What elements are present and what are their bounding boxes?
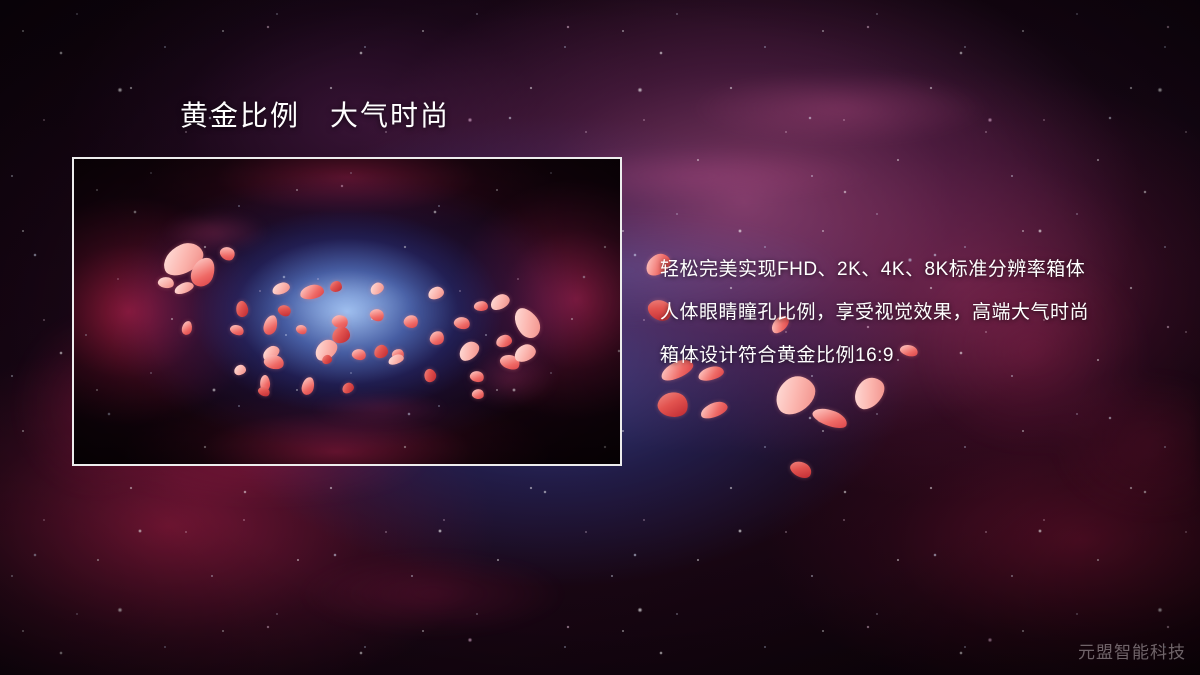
- description-line-3: 箱体设计符合黄金比例16:9: [660, 334, 1180, 377]
- petal: [330, 281, 342, 292]
- description-line-1: 轻松完美实现FHD、2K、4K、8K标准分辨率箱体: [660, 248, 1180, 291]
- description-text: 轻松完美实现FHD、2K、4K、8K标准分辨率箱体 人体眼睛瞳孔比例，享受视觉效…: [660, 248, 1180, 377]
- watermark: 元盟智能科技: [1078, 638, 1186, 663]
- description-line-2: 人体眼睛瞳孔比例，享受视觉效果，高端大气时尚: [660, 291, 1180, 334]
- framed-vignette: [74, 159, 620, 464]
- page-title: 黄金比例 大气时尚: [180, 102, 450, 130]
- presentation-slide: 黄金比例 大气时尚: [0, 0, 1200, 675]
- framed-image: [72, 157, 622, 466]
